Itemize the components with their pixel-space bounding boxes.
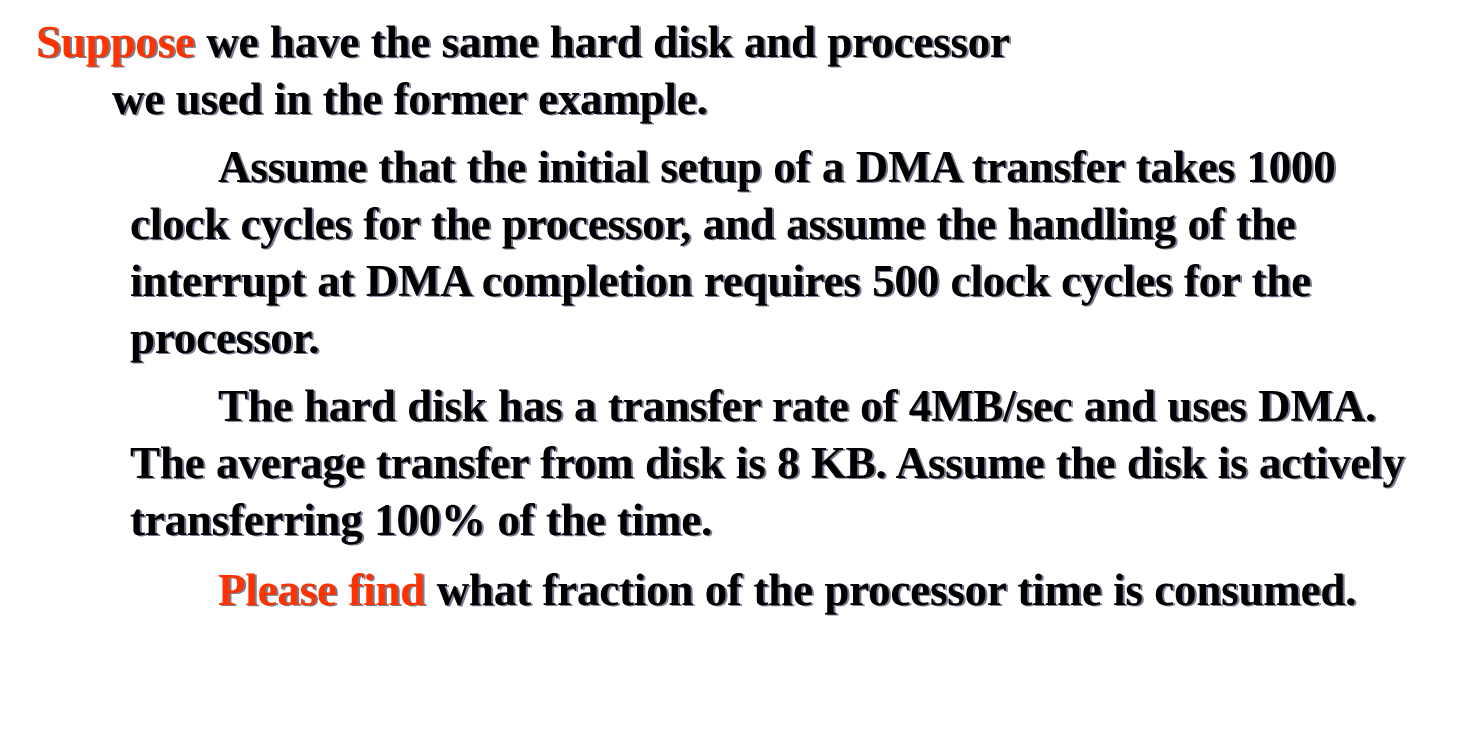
question-rest: what fraction of the processor time is c… xyxy=(425,565,1356,615)
slide-canvas: Suppose we have the same hard disk and p… xyxy=(0,0,1470,733)
question-accent-phrase: Please find xyxy=(218,565,425,615)
paragraph-question: Please find what fraction of the process… xyxy=(130,562,1438,619)
lead-line2: we used in the former example. xyxy=(36,71,1444,128)
lead-accent-word: Suppose xyxy=(36,17,195,67)
lead-paragraph: Suppose we have the same hard disk and p… xyxy=(36,14,1444,128)
lead-line1-rest: we have the same hard disk and processor xyxy=(195,17,1010,67)
paragraph-disk-parameters: The hard disk has a transfer rate of 4MB… xyxy=(130,378,1438,549)
paragraph-dma-setup-cost: Assume that the initial setup of a DMA t… xyxy=(130,139,1438,367)
slide-body: Suppose we have the same hard disk and p… xyxy=(0,0,1470,733)
